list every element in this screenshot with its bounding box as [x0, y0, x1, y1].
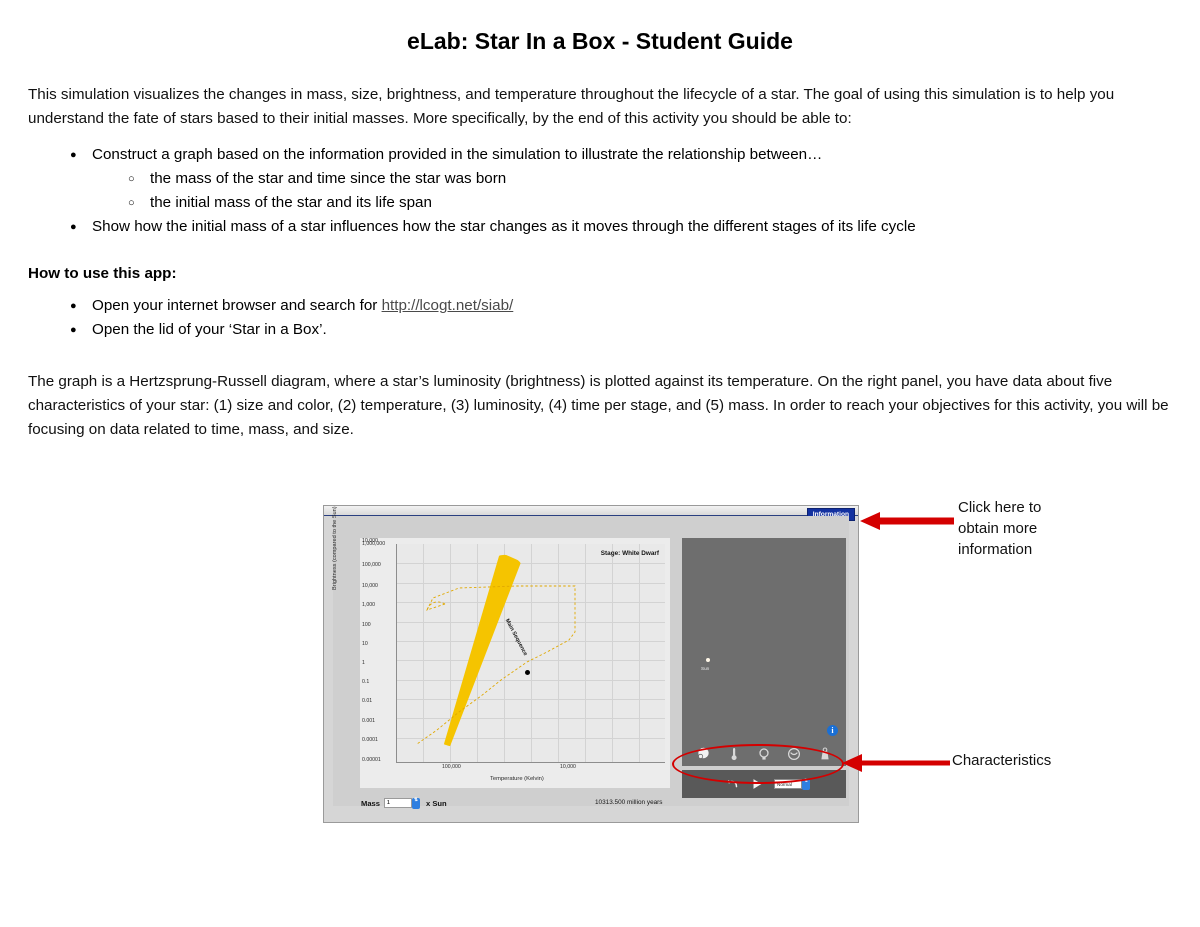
y-axis-label: Brightness (compared to the Sun) — [332, 506, 338, 590]
star-in-a-box-app: Information Brightness (compared to the … — [323, 505, 859, 823]
information-arrow — [858, 510, 958, 532]
speed-stepper[interactable]: ⇅ — [802, 779, 810, 790]
list-item: Open the lid of your ‘Star in a Box’. — [70, 318, 1172, 342]
x-tick: 100,000 — [442, 764, 461, 770]
intro-paragraph: This simulation visualizes the changes i… — [28, 83, 1172, 131]
y-tick: 0.00001 — [362, 757, 381, 763]
objectives-list: Construct a graph based on the informati… — [28, 143, 1172, 239]
information-callout-label: Click here to obtain more information — [958, 497, 1078, 560]
y-tick: 1,000 — [362, 602, 375, 608]
list-item: the initial mass of the star and its lif… — [128, 191, 1172, 215]
objective-2-text: Show how the initial mass of a star infl… — [92, 218, 916, 235]
information-callout-text: Click here to obtain more information — [958, 497, 1078, 560]
y-tick: 100,000 — [362, 562, 381, 568]
page-title: eLab: Star In a Box - Student Guide — [28, 28, 1172, 55]
thermometer-icon[interactable] — [726, 746, 742, 762]
star-name-label: Sun — [701, 666, 709, 671]
y-tick: 100 — [362, 622, 371, 628]
current-star-marker — [525, 670, 530, 675]
app-content: Brightness (compared to the Sun) 1,000,0… — [333, 516, 849, 806]
y-tick: 0.0001 — [362, 737, 378, 743]
siab-link[interactable]: http://lcogt.net/siab/ — [382, 297, 514, 314]
objective-1-sublist: the mass of the star and time since the … — [92, 167, 1172, 215]
objective-1-text: Construct a graph based on the informati… — [92, 146, 822, 163]
y-tick: 0.1 — [362, 679, 369, 685]
playback-controls: Normal ⇅ — [682, 770, 846, 798]
mass-units: x Sun — [426, 799, 447, 808]
mass-label: Mass — [361, 799, 380, 808]
evolutionary-track — [397, 544, 665, 762]
mass-input[interactable]: 1 ⇅ — [384, 798, 412, 808]
speed-value: Normal — [777, 782, 792, 787]
star-sphere — [706, 658, 710, 662]
info-icon[interactable]: i — [827, 725, 838, 736]
x-axis-label: Temperature (Kelvin) — [490, 776, 544, 782]
mass-value: 1 — [387, 800, 390, 806]
how-to-item-1-text: Open your internet browser and search fo… — [92, 297, 382, 314]
list-item: the mass of the star and time since the … — [128, 167, 1172, 191]
list-item: Show how the initial mass of a star infl… — [70, 215, 1172, 239]
elapsed-time: 10313.500 million years — [595, 799, 663, 806]
y-tick: 0.001 — [362, 718, 375, 724]
app-title-bar — [324, 506, 858, 516]
characteristics-arrow — [838, 752, 953, 774]
how-to-heading: How to use this app: — [28, 265, 1172, 282]
light-bulb-icon[interactable] — [756, 746, 772, 762]
weight-icon[interactable] — [817, 746, 833, 762]
plot-area: Stage: White Dwarf Main Sequence — [396, 544, 665, 763]
list-item: Construct a graph based on the informati… — [70, 143, 1172, 215]
star-size-icon[interactable] — [695, 746, 711, 762]
play-icon[interactable] — [750, 777, 764, 791]
y-tick: 10,000 — [362, 538, 378, 544]
y-tick: 10,000 — [362, 583, 378, 589]
clock-icon[interactable] — [786, 746, 802, 762]
reset-icon[interactable] — [726, 777, 740, 791]
mass-stepper[interactable]: ⇅ — [412, 798, 420, 809]
y-tick: 1 — [362, 660, 365, 666]
closing-paragraph: The graph is a Hertzsprung-Russell diagr… — [28, 370, 1172, 442]
star-display-panel: Sun i — [682, 538, 846, 766]
y-tick: 10 — [362, 641, 368, 647]
y-tick: 0.01 — [362, 698, 372, 704]
list-item: Open your internet browser and search fo… — [70, 294, 1172, 318]
how-to-item-2-text: Open the lid of your ‘Star in a Box’. — [92, 321, 327, 338]
speed-select[interactable]: Normal ⇅ — [774, 779, 802, 789]
characteristics-bar — [682, 742, 846, 766]
hr-diagram-panel: Brightness (compared to the Sun) 1,000,0… — [360, 538, 670, 788]
mass-control-row: Mass 1 ⇅ x Sun — [361, 798, 447, 808]
how-to-list: Open your internet browser and search fo… — [28, 294, 1172, 342]
x-tick: 10,000 — [560, 764, 576, 770]
characteristics-callout-text: Characteristics — [952, 750, 1051, 771]
